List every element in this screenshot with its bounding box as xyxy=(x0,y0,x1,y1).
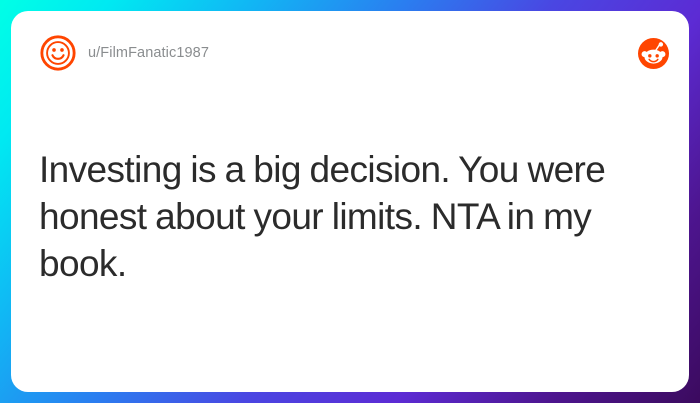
quote-text: Investing is a big decision. You were ho… xyxy=(39,147,639,288)
card-body: Investing is a big decision. You were ho… xyxy=(39,147,639,288)
reddit-quote-card: u/FilmFanatic1987 Investing is a big dec… xyxy=(11,11,689,392)
author-username: u/FilmFanatic1987 xyxy=(88,45,209,61)
card-header: u/FilmFanatic1987 xyxy=(11,11,689,95)
reddit-snoo-icon[interactable] xyxy=(638,38,669,69)
author-block[interactable]: u/FilmFanatic1987 xyxy=(39,34,638,72)
smiley-face-icon xyxy=(39,34,77,72)
screenshot-root: u/FilmFanatic1987 Investing is a big dec… xyxy=(0,0,700,403)
